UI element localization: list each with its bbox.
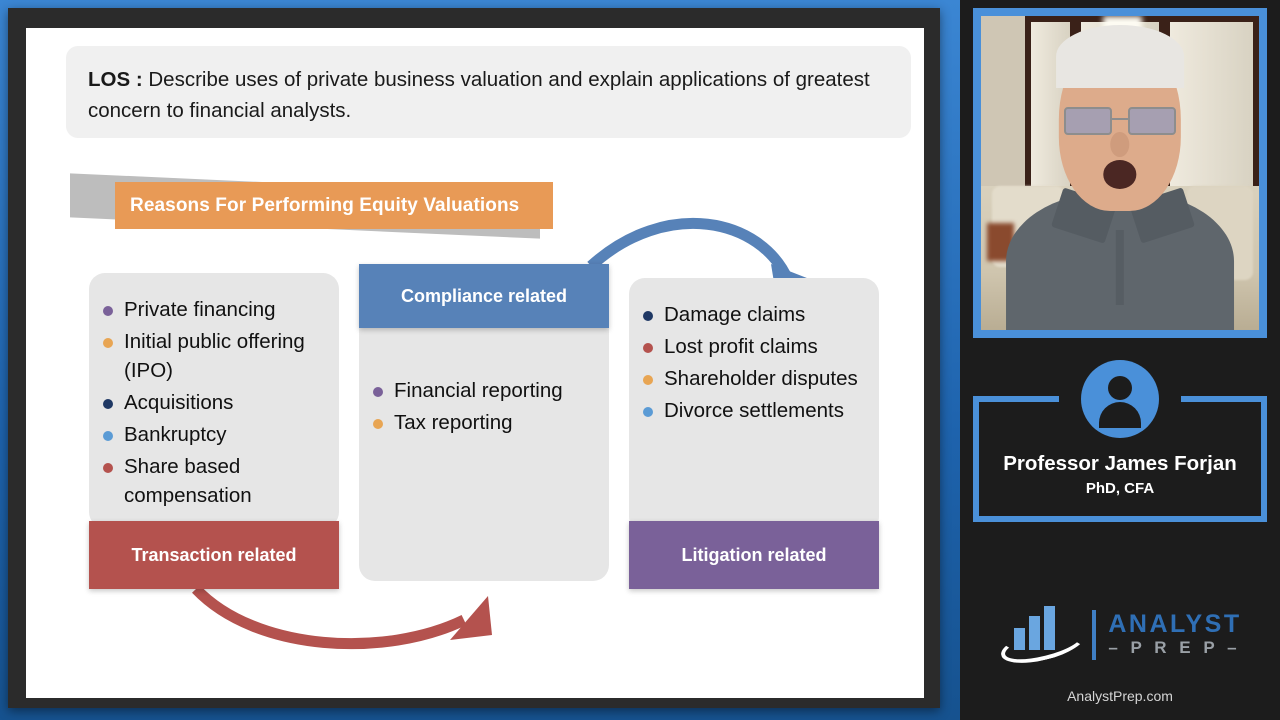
- person-icon: [1081, 360, 1159, 438]
- bar-chart-swoosh-icon: [998, 604, 1090, 666]
- blue-arrow-path: [591, 223, 788, 280]
- tag-transaction-related: Transaction related: [89, 521, 339, 589]
- list-item: Initial public offering (IPO): [103, 327, 325, 385]
- los-prefix: LOS :: [88, 68, 143, 91]
- sidebar: Professor James Forjan PhD, CFA ANALYST …: [960, 0, 1280, 720]
- presenter-video[interactable]: [981, 16, 1259, 330]
- card-litigation-bullets: Damage claims Lost profit claims Shareho…: [629, 278, 879, 428]
- bullet-label: Initial public offering (IPO): [124, 327, 325, 385]
- bullet-dot-icon: [103, 306, 113, 316]
- logo-primary-text: ANALYST: [1108, 611, 1241, 637]
- banner-bar: Reasons For Performing Equity Valuations: [115, 182, 553, 229]
- bullet-dot-icon: [373, 387, 383, 397]
- bullet-dot-icon: [643, 407, 653, 417]
- tag-compliance-related: Compliance related: [359, 264, 609, 328]
- bullet-label: Share based compensation: [124, 452, 325, 510]
- list-item: Lost profit claims: [643, 332, 865, 361]
- bullet-label: Divorce settlements: [664, 396, 844, 425]
- site-url[interactable]: AnalystPrep.com: [960, 688, 1280, 704]
- red-arrow-head: [450, 596, 492, 640]
- tag-litigation-related: Litigation related: [629, 521, 879, 589]
- banner-label: Reasons For Performing Equity Valuations: [130, 195, 519, 217]
- list-item: Bankruptcy: [103, 420, 325, 449]
- video-bg-wall: [981, 16, 1025, 198]
- card-transaction: Private financing Initial public offerin…: [89, 273, 339, 528]
- video-bg-curtain: [1170, 22, 1253, 192]
- list-item: Private financing: [103, 295, 325, 324]
- bullet-dot-icon: [643, 343, 653, 353]
- presenter-card-frame-top-left: [973, 396, 1059, 402]
- bullet-label: Damage claims: [664, 300, 805, 329]
- bullet-dot-icon: [103, 399, 113, 409]
- bullet-dot-icon: [103, 338, 113, 348]
- list-item: Financial reporting: [373, 376, 595, 405]
- los-objective-box: LOS : Describe uses of private business …: [66, 46, 911, 138]
- person-icon-body: [1099, 402, 1141, 428]
- logo-wordmark: ANALYST – P R E P –: [1108, 611, 1241, 659]
- presenter-glasses: [1128, 107, 1175, 135]
- list-item: Tax reporting: [373, 408, 595, 437]
- los-objective-text: LOS : Describe uses of private business …: [88, 64, 889, 126]
- presenter-name: Professor James Forjan: [973, 452, 1267, 476]
- analystprep-logo[interactable]: ANALYST – P R E P –: [960, 600, 1280, 670]
- bullet-label: Financial reporting: [394, 376, 563, 405]
- los-body: Describe uses of private business valuat…: [88, 68, 870, 122]
- list-item: Shareholder disputes: [643, 364, 865, 393]
- section-banner: Reasons For Performing Equity Valuations: [70, 166, 570, 256]
- presenter-video-frame[interactable]: [973, 8, 1267, 338]
- slide-frame: LOS : Describe uses of private business …: [8, 8, 940, 708]
- bullet-dot-icon: [103, 431, 113, 441]
- presenter-placket: [1116, 230, 1124, 305]
- card-litigation: Damage claims Lost profit claims Shareho…: [629, 278, 879, 533]
- bullet-label: Bankruptcy: [124, 420, 227, 449]
- presenter-credentials: PhD, CFA: [973, 480, 1267, 497]
- presenter-info-card: Professor James Forjan PhD, CFA: [973, 352, 1267, 522]
- list-item: Share based compensation: [103, 452, 325, 510]
- presenter-hair: [1056, 25, 1184, 88]
- presenter-glasses: [1064, 107, 1111, 135]
- bullet-label: Private financing: [124, 295, 276, 324]
- list-item: Damage claims: [643, 300, 865, 329]
- bullet-dot-icon: [373, 419, 383, 429]
- slide-canvas: LOS : Describe uses of private business …: [26, 28, 924, 698]
- tag-litigation-label: Litigation related: [681, 545, 826, 566]
- person-icon-head: [1108, 376, 1132, 400]
- logo-divider: [1092, 610, 1096, 660]
- bullet-dot-icon: [643, 311, 653, 321]
- list-item: Acquisitions: [103, 388, 325, 417]
- logo-secondary-text: – P R E P –: [1108, 637, 1241, 659]
- presenter-glasses-bridge: [1112, 118, 1129, 120]
- bullet-dot-icon: [643, 375, 653, 385]
- red-arrow-path: [196, 589, 464, 644]
- bullet-label: Shareholder disputes: [664, 364, 858, 393]
- bullet-label: Tax reporting: [394, 408, 513, 437]
- presenter-card-frame-top-right: [1181, 396, 1267, 402]
- card-transaction-bullets: Private financing Initial public offerin…: [89, 273, 339, 513]
- bullet-label: Lost profit claims: [664, 332, 818, 361]
- bullet-dot-icon: [103, 463, 113, 473]
- card-compliance: Financial reporting Tax reporting: [359, 296, 609, 581]
- tag-compliance-label: Compliance related: [401, 286, 567, 307]
- slide-region: LOS : Describe uses of private business …: [0, 0, 960, 720]
- bullet-label: Acquisitions: [124, 388, 233, 417]
- tag-transaction-label: Transaction related: [131, 545, 296, 566]
- list-item: Divorce settlements: [643, 396, 865, 425]
- app-root: LOS : Describe uses of private business …: [0, 0, 1280, 720]
